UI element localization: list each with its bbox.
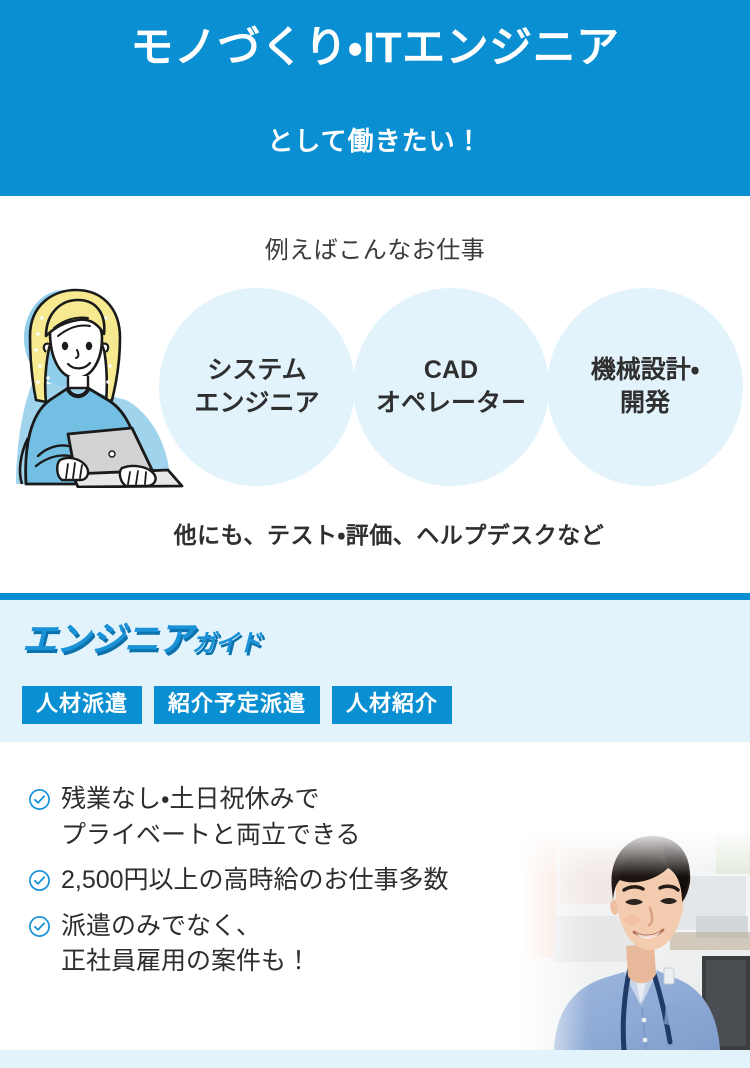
benefit-text: 残業なし・土日祝休みで プライベートと両立できる xyxy=(61,782,361,853)
section-divider xyxy=(0,593,750,600)
brand-logo-sub: ガイド xyxy=(192,630,261,657)
office-worker-photo xyxy=(520,828,750,1050)
job-circle-label: CAD オペレーター xyxy=(376,354,526,420)
jobs-lead-text: 例えばこんなお仕事 xyxy=(0,230,750,265)
tag-jinzai-haken[interactable]: 人材派遣 xyxy=(22,686,142,724)
service-tags: 人材派遣 紹介予定派遣 人材紹介 xyxy=(22,686,452,724)
list-item: 残業なし・土日祝休みで プライベートと両立できる xyxy=(28,782,548,853)
brand-logo-main: エンジニア xyxy=(22,620,192,659)
list-item: 2,500円以上の高時給のお仕事多数 xyxy=(28,863,548,899)
list-item: 派遣のみでなく、 正社員雇用の案件も！ xyxy=(28,909,548,980)
jobs-footnote: 他にも、テスト・評価、ヘルプデスクなど xyxy=(0,516,750,550)
benefit-text: 2,500円以上の高時給のお仕事多数 xyxy=(61,863,449,899)
landing-page: モノづくり・ITエンジニア として働きたい！ 例えばこんなお仕事 システム エン… xyxy=(0,0,750,1068)
job-circle-cad-operator: CAD オペレーター xyxy=(353,288,549,486)
woman-with-laptop-illustration xyxy=(2,288,192,488)
page-title: モノづくり・ITエンジニア xyxy=(0,22,750,76)
job-circle-mechanical-design: 機械設計・ 開発 xyxy=(547,288,743,486)
check-circle-icon xyxy=(28,915,51,938)
benefit-list: 残業なし・土日祝休みで プライベートと両立できる 2,500円以上の高時給のお仕… xyxy=(28,782,548,990)
tag-shokai-yotei-haken[interactable]: 紹介予定派遣 xyxy=(154,686,320,724)
job-circle-label: 機械設計・ 開発 xyxy=(591,354,700,420)
jobs-section: 例えばこんなお仕事 システム エンジニア CAD オペレーター 機械設計・ 開発 xyxy=(0,196,750,593)
hero-subtitle: として働きたい！ xyxy=(0,126,750,157)
benefit-text: 派遣のみでなく、 正社員雇用の案件も！ xyxy=(61,909,311,980)
check-circle-icon xyxy=(28,869,51,892)
brand-logo[interactable]: エンジニアガイド xyxy=(22,622,261,657)
tag-jinzai-shokai[interactable]: 人材紹介 xyxy=(332,686,452,724)
check-circle-icon xyxy=(28,788,51,811)
hero-banner: モノづくり・ITエンジニア として働きたい！ xyxy=(0,0,750,196)
job-circle-label: システム エンジニア xyxy=(194,354,319,420)
footer-band xyxy=(0,1050,750,1068)
